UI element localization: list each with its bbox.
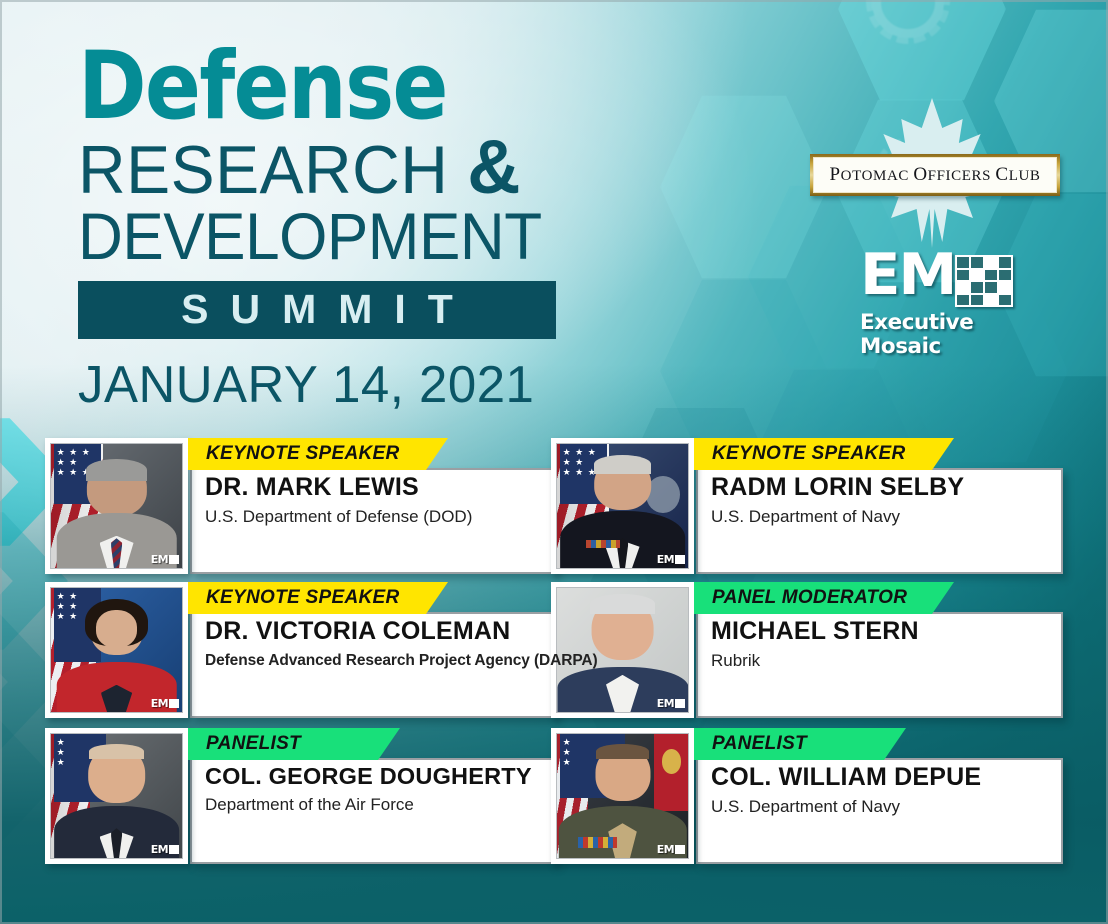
speaker-card[interactable]: KEYNOTE SPEAKER ★ ★ ★★ ★★ ★ ★ EM	[45, 438, 557, 574]
role-label: PANELIST	[188, 733, 301, 755]
speaker-name: RADM LORIN SELBY	[711, 474, 1091, 502]
em-watermark: EM	[151, 554, 179, 565]
poc-gold-banner: POTOMAC OFFICERS CLUB	[810, 154, 1060, 196]
speaker-name: COL. GEORGE DOUGHERTY	[205, 764, 585, 790]
photo-frame: ★ ★★ ★★ ★ EM	[50, 587, 183, 713]
speaker-org: U.S. Department of Navy	[711, 798, 1091, 817]
role-ribbon: PANEL MODERATOR	[694, 582, 954, 614]
photo-frame: ★ ★ ★★ ★★ ★ ★ EM	[50, 443, 183, 569]
portrait-hair	[89, 744, 144, 759]
portrait-hair	[596, 744, 648, 759]
speaker-photo: ★ ★ ★★ ★★ ★ ★ EM	[45, 438, 188, 574]
speaker-org: Rubrik	[711, 652, 1091, 671]
speaker-name: COL. WILLIAM DEPUE	[711, 764, 1091, 792]
role-ribbon: PANELIST	[694, 728, 906, 760]
executive-mosaic-logo: EM Executive Mosaic	[860, 252, 1030, 344]
portrait-hair	[594, 455, 652, 474]
role-label: KEYNOTE SPEAKER	[188, 587, 399, 609]
portrait-face	[96, 610, 138, 647]
em-watermark: EM	[151, 698, 179, 709]
speaker-name: DR. VICTORIA COLEMAN	[205, 618, 585, 646]
em-watermark: EM	[657, 554, 685, 565]
service-ribbons	[578, 837, 617, 848]
role-label: PANEL MODERATOR	[694, 587, 907, 609]
em-watermark: EM	[151, 844, 179, 855]
poc-wordmark: POTOMAC OFFICERS CLUB	[829, 164, 1040, 186]
role-ribbon: KEYNOTE SPEAKER	[188, 582, 448, 614]
portrait-hair	[590, 594, 656, 614]
speaker-photo: ★★★ EM	[45, 728, 188, 864]
title-defense: Defense	[78, 44, 571, 130]
potomac-officers-club-logo: POTOMAC OFFICERS CLUB	[810, 104, 1060, 254]
speaker-card[interactable]: KEYNOTE SPEAKER ★ ★ ★★ ★★ ★ ★ EM	[551, 438, 1063, 574]
title-research-word: RESEARCH	[78, 132, 467, 208]
em-watermark: EM	[657, 844, 685, 855]
speaker-text: COL. WILLIAM DEPUE U.S. Department of Na…	[711, 764, 1091, 816]
title-research: RESEARCH &	[78, 132, 621, 205]
speaker-text: RADM LORIN SELBY U.S. Department of Navy	[711, 474, 1091, 526]
speaker-name: DR. MARK LEWIS	[205, 474, 585, 502]
em-wordmark: Executive Mosaic	[860, 310, 1033, 358]
role-label: PANELIST	[694, 733, 807, 755]
role-ribbon: PANELIST	[188, 728, 400, 760]
speaker-text: MICHAEL STERN Rubrik	[711, 618, 1091, 670]
speaker-org: Department of the Air Force	[205, 796, 585, 815]
speaker-org: Defense Advanced Research Project Agency…	[205, 652, 585, 669]
summit-label: SUMMIT	[159, 286, 475, 333]
poc-banner-inner: POTOMAC OFFICERS CLUB	[813, 157, 1057, 193]
em-monogram: EM	[860, 252, 955, 300]
speaker-card[interactable]: PANEL MODERATOR EM MICHAEL STERN Rubrik	[551, 582, 1063, 718]
role-label: KEYNOTE SPEAKER	[188, 443, 399, 465]
role-label: KEYNOTE SPEAKER	[694, 443, 905, 465]
usmc-emblem	[662, 749, 682, 774]
speaker-org: U.S. Department of Navy	[711, 508, 1091, 527]
em-watermark: EM	[657, 698, 685, 709]
summit-band: SUMMIT	[78, 281, 556, 339]
speaker-text: DR. MARK LEWIS U.S. Department of Defens…	[205, 474, 585, 526]
speaker-text: DR. VICTORIA COLEMAN Defense Advanced Re…	[205, 618, 585, 669]
speaker-photo: ★ ★★ ★★ ★ EM	[45, 582, 188, 718]
photo-frame: ★★★ EM	[50, 733, 183, 859]
portrait-hair	[86, 459, 146, 481]
title-ampersand: &	[467, 125, 519, 210]
em-logo-row: EM	[860, 252, 1030, 307]
speaker-org: U.S. Department of Defense (DOD)	[205, 508, 585, 527]
event-title-block: Defense RESEARCH & DEVELOPMENT SUMMIT JA…	[78, 44, 638, 415]
speaker-card[interactable]: PANELIST ★★★ EM	[551, 728, 1063, 864]
title-development: DEVELOPMENT	[78, 205, 604, 268]
role-ribbon: KEYNOTE SPEAKER	[188, 438, 448, 470]
speaker-card[interactable]: PANELIST ★★★ EM COL. GEOR	[45, 728, 557, 864]
mosaic-grid-icon	[955, 255, 1013, 307]
speaker-text: COL. GEORGE DOUGHERTY Department of the …	[205, 764, 585, 815]
speaker-name: MICHAEL STERN	[711, 618, 1091, 646]
event-date: JANUARY 14, 2021	[78, 355, 627, 415]
role-ribbon: KEYNOTE SPEAKER	[694, 438, 954, 470]
service-ribbons	[586, 540, 620, 549]
speaker-card[interactable]: KEYNOTE SPEAKER ★ ★★ ★★ ★ EM	[45, 582, 557, 718]
event-promo-graphic: Defense RESEARCH & DEVELOPMENT SUMMIT JA…	[0, 0, 1108, 924]
